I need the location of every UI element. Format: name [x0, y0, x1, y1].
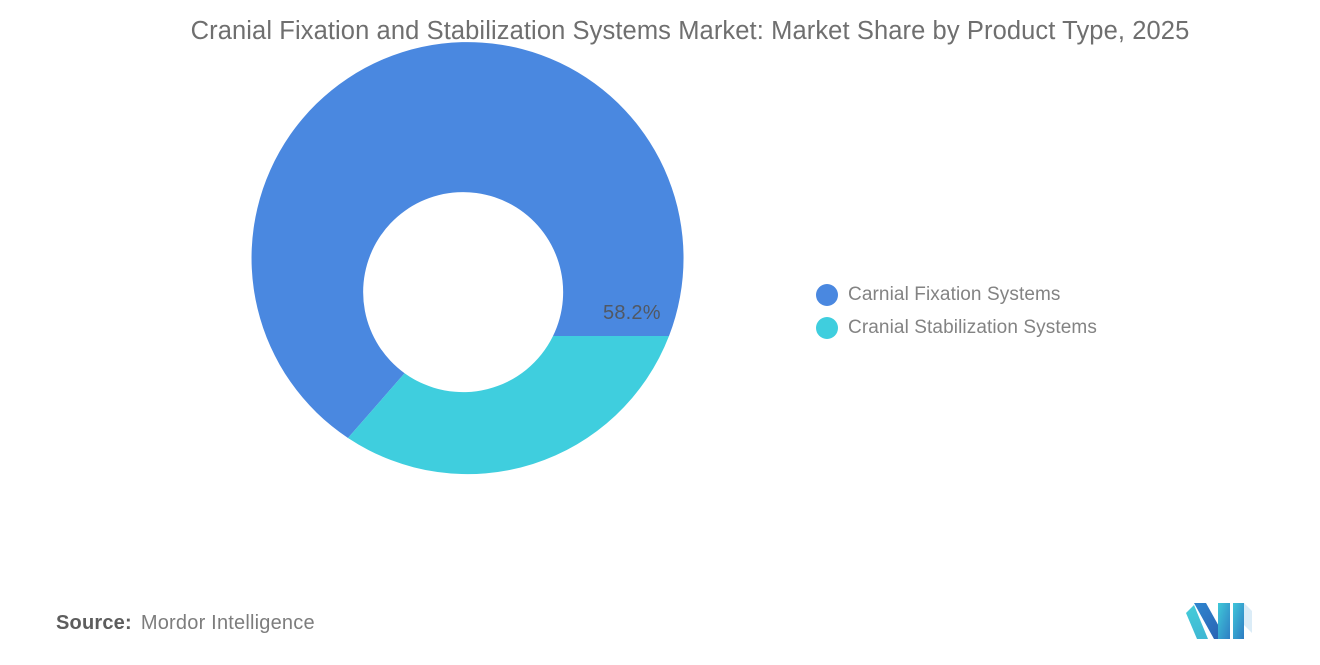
- source-attribution: Source: Mordor Intelligence: [56, 612, 315, 635]
- legend-swatch-icon: [816, 317, 838, 339]
- donut-chart: 58.2%: [237, 120, 669, 552]
- chart-title: Cranial Fixation and Stabilization Syste…: [160, 12, 1220, 51]
- source-value: Mordor Intelligence: [141, 612, 315, 635]
- mordor-intelligence-logo-icon: [1186, 599, 1252, 639]
- mordor-intelligence-logo: [1186, 599, 1252, 639]
- donut-chart-svg: [237, 120, 669, 552]
- legend-swatch-icon: [816, 284, 838, 306]
- donut-slice-cranial-stabilization-systems[interactable]: [348, 336, 669, 474]
- legend-label: Carnial Fixation Systems: [848, 284, 1061, 306]
- legend-label: Cranial Stabilization Systems: [848, 317, 1097, 339]
- legend-item-cranial-stabilization-systems[interactable]: Cranial Stabilization Systems: [816, 316, 1097, 339]
- slice-percentage-label: 58.2%: [603, 302, 661, 325]
- chart-legend: Carnial Fixation Systems Cranial Stabili…: [816, 283, 1097, 339]
- legend-item-carnial-fixation-systems[interactable]: Carnial Fixation Systems: [816, 283, 1097, 306]
- source-label: Source:: [56, 612, 132, 635]
- chart-card: Cranial Fixation and Stabilization Syste…: [0, 0, 1320, 665]
